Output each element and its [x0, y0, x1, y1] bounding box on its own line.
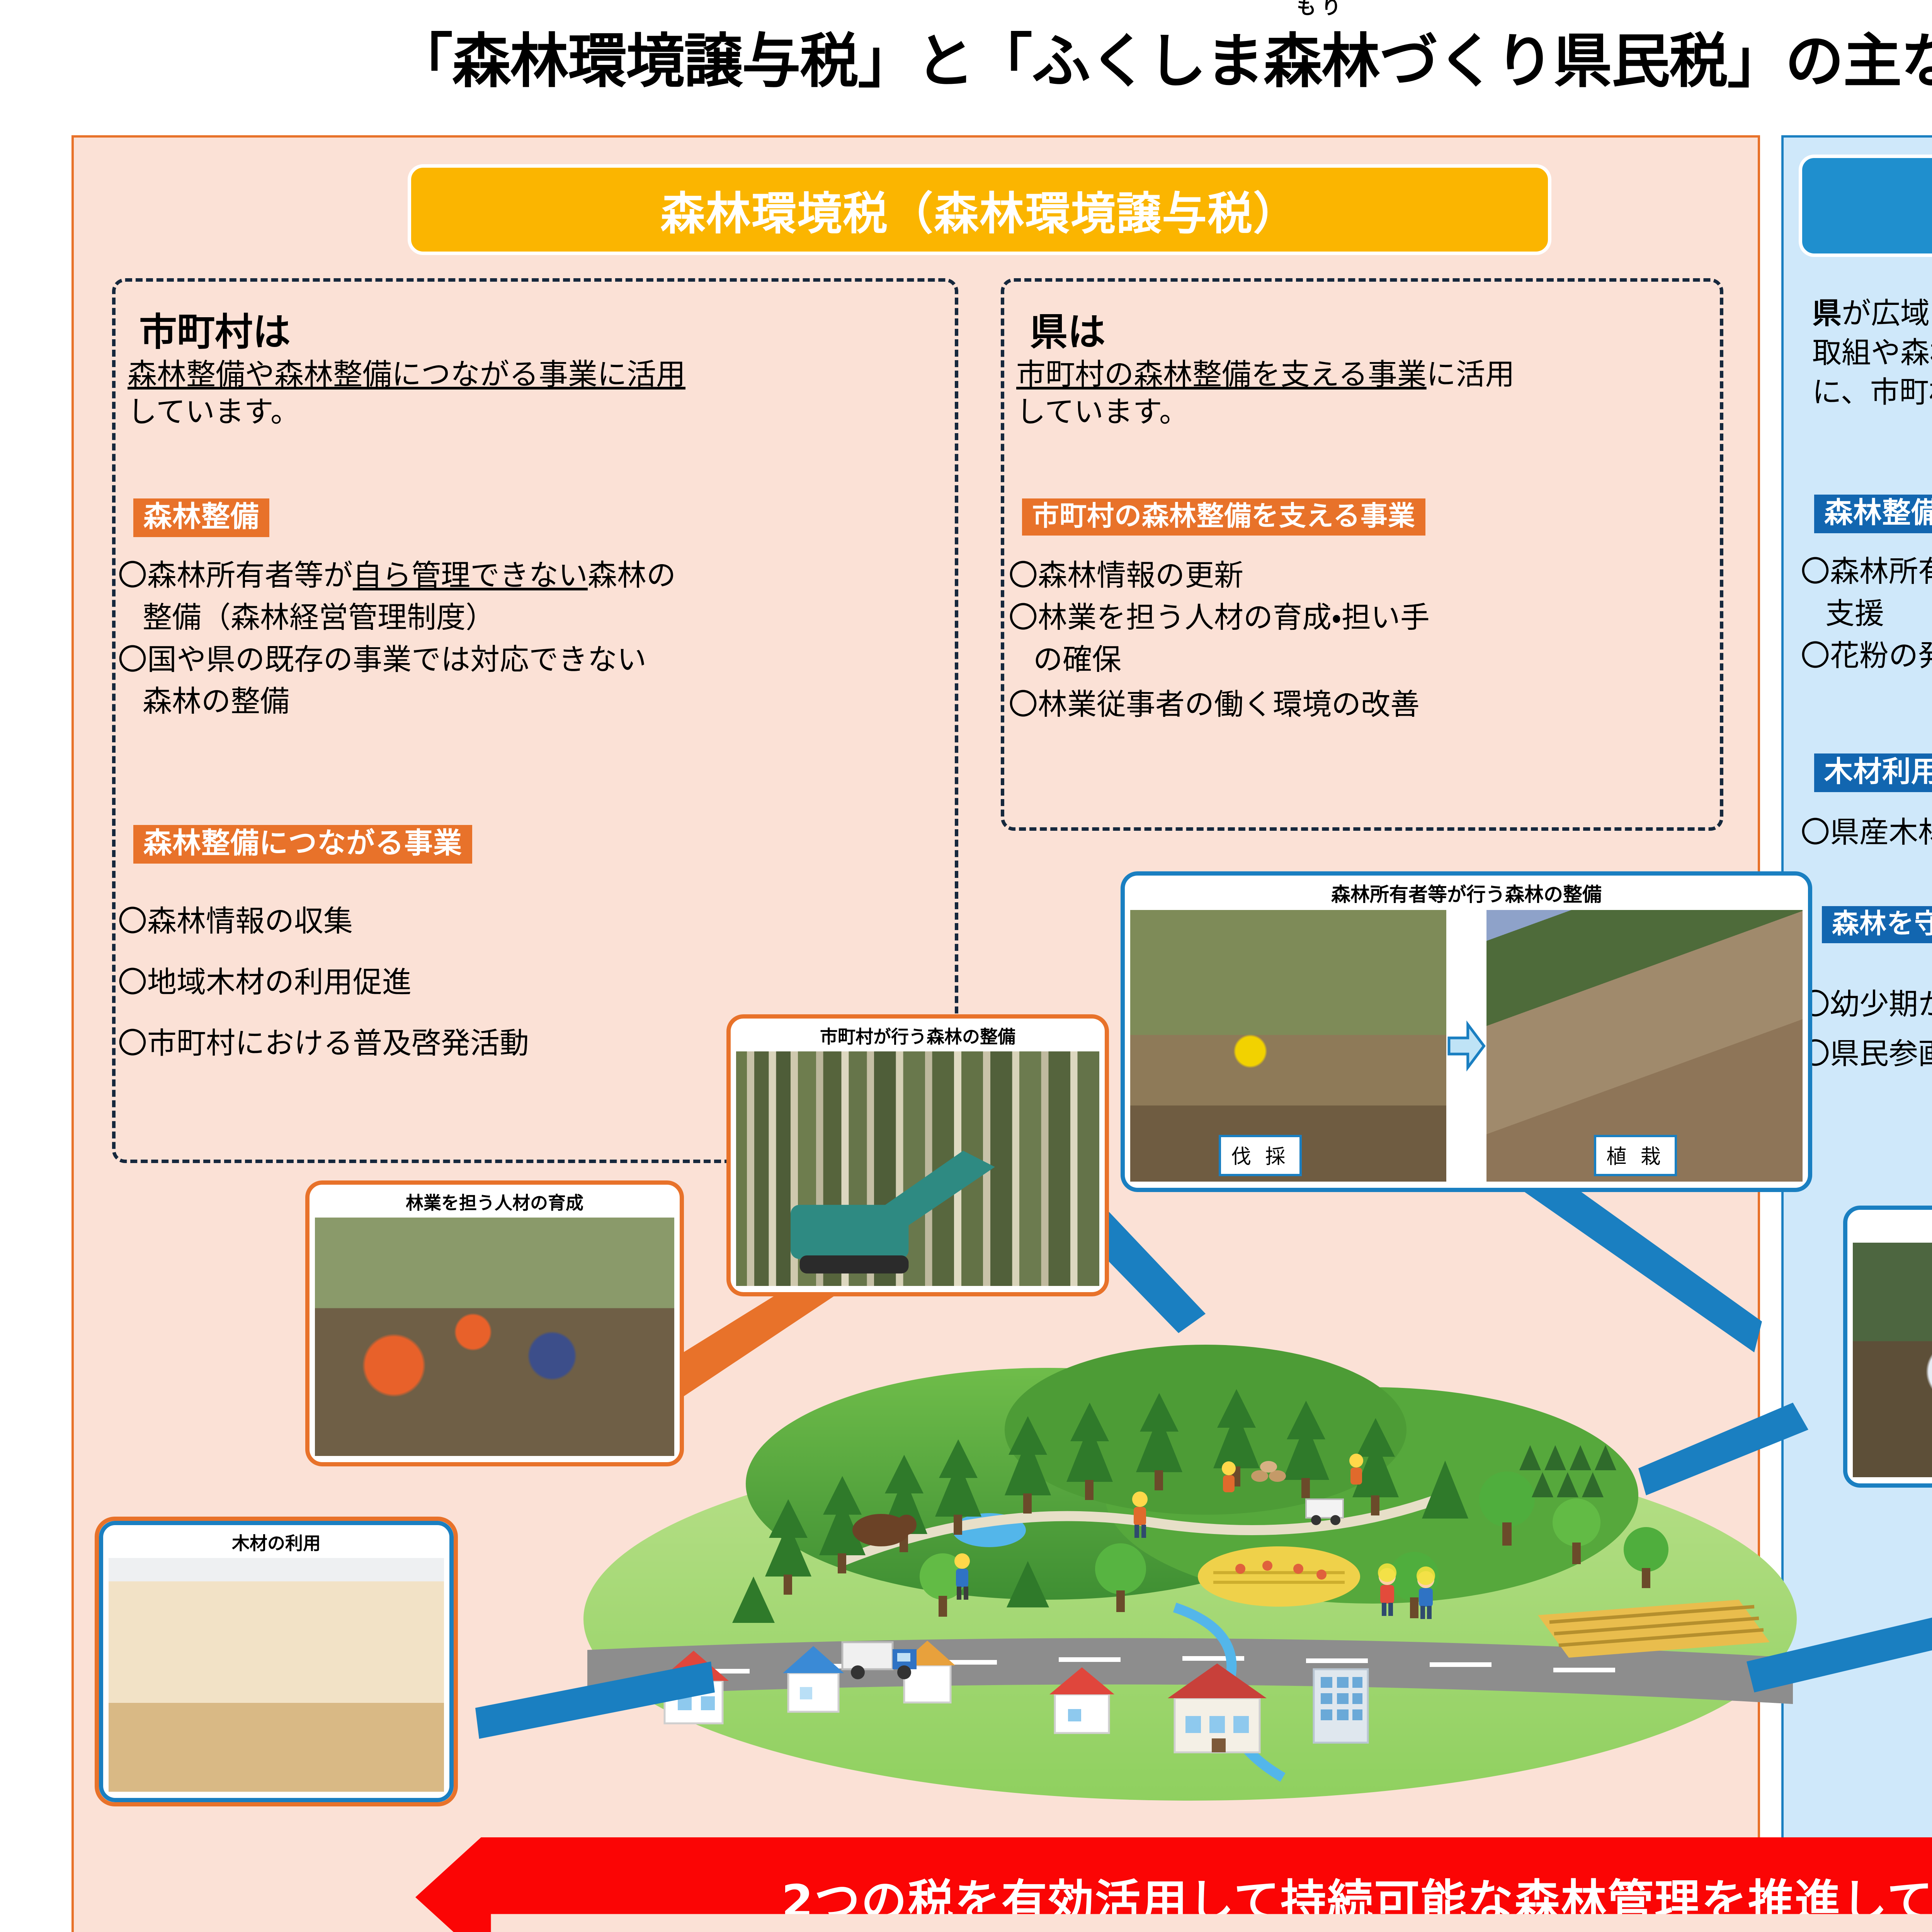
bullet-text: 〇県民参画による森林づくり — [1801, 1036, 1932, 1071]
photo-sublabel: 伐 採 — [1219, 1135, 1302, 1176]
forest-landscape-illustration — [572, 1229, 1808, 1832]
bottom-banner: 2つの税を有効活用して持続可能な森林管理を推進しています — [415, 1837, 1932, 1932]
right-awareness-bullets: 〇幼少期から大人までの森林環境学習 もり 〇県民参画による森林づくり — [1801, 981, 1932, 1080]
bullet-continuation: 森林の整備 — [118, 682, 949, 721]
arrow-right-icon — [1446, 910, 1486, 1182]
intro-line3: に、市町村と協力して活用しています。 — [1812, 375, 1932, 409]
page-title-ruby-base: 森林 — [1264, 27, 1379, 95]
right-maintenance-bullets: 〇森林所有者等が自ら管理する森林の整備を 支援 〇花粉の発生源対策 — [1801, 553, 1932, 679]
photo-planting: 植 栽 — [1486, 910, 1803, 1182]
chip-awareness-initiatives: 森林を守り育てる意識を高める取組 — [1822, 906, 1932, 943]
photo-sublabel: 植 栽 — [1594, 1135, 1677, 1176]
photo-card-human-resources: 林業を担う人材の育成 — [305, 1180, 684, 1466]
prefecture-description: 市町村の森林整備を支える事業に活用 しています。 — [1016, 355, 1719, 431]
chip-forest-maintenance-left: 森林整備 — [133, 498, 269, 537]
photo-municipal-forest — [736, 1051, 1099, 1286]
photo-wood-interior — [109, 1558, 444, 1792]
fukushima-forest-creation-tax-header: ふくしまもり森林づくり県民税 — [1799, 155, 1932, 257]
bullet-item: 〇林業従事者の働く環境の改善 — [1009, 685, 1719, 724]
bullet-ruby-group: もり 〇県民参画による森林づくり — [1801, 1031, 1932, 1077]
chip-wood-utilization: 木材利用 — [1814, 753, 1932, 792]
bullet-item: 〇林業を担う人材の育成・担い手 — [1009, 599, 1719, 637]
bullet-item: 〇国や県の既存の事業では対応できない — [118, 641, 949, 679]
bullet-continuation: の確保 — [1009, 641, 1719, 679]
bullet-item: 〇森林所有者等が自ら管理する森林の整備を — [1801, 553, 1932, 591]
municipality-description: 森林整備や森林整備につながる事業に活用 しています。 — [128, 355, 947, 431]
bullet-item: 〇森林情報の更新 — [1009, 556, 1719, 595]
bullet-item: 〇森林情報の収集 — [118, 893, 949, 950]
page-title-ruby-group: もり森林 — [1264, 14, 1379, 99]
page-title-ruby: もり — [1297, 0, 1346, 20]
bullet-item: もり 〇県民参画による森林づくり — [1801, 1031, 1932, 1077]
prefecture-description-underlined: 市町村の森林整備を支える事業 — [1016, 357, 1427, 391]
bullet-continuation: 整備（森林経営管理制度） — [118, 599, 949, 637]
chip-forest-maintenance-right: 森林整備 — [1814, 495, 1932, 533]
bullet-continuation: 支援 — [1801, 595, 1932, 633]
photo-card-wood-use: 木材の利用 — [99, 1521, 454, 1802]
page-title-part1: 「森林環境譲与税」と「ふくしま — [394, 14, 1264, 99]
forest-environment-tax-header: 森林環境税（森林環境譲与税） — [408, 164, 1551, 255]
photo-card-forest-learning: 森林環境学習 — [1843, 1206, 1932, 1488]
photo-caption: 木材の利用 — [232, 1534, 321, 1553]
photo-felling: 伐 採 — [1130, 910, 1446, 1182]
photo-card-owner-maintenance: 森林所有者等が行う森林の整備 伐 採 植 栽 — [1121, 871, 1812, 1192]
prefecture-subject: 県は — [1030, 301, 1105, 356]
prefecture-description-tail2: しています。 — [1016, 395, 1189, 429]
bullet-item: 〇花粉の発生源対策 — [1801, 637, 1932, 675]
page-title-part2: づくり県民税」の主な取組 — [1379, 14, 1932, 99]
municipality-maintenance-bullets: 〇森林所有者等が自ら管理できない森林の 整備（森林経営管理制度） 〇国や県の既存… — [118, 556, 949, 724]
page-title: 「森林環境譲与税」と「ふくしまもり森林づくり県民税」の主な取組 — [162, 12, 1932, 100]
bullet-item: 〇県産木材の利用促進 — [1801, 813, 1932, 852]
photo-card-wood-use-outer: 木材の利用 — [95, 1517, 458, 1806]
photo-caption: 市町村が行う森林の整備 — [820, 1027, 1015, 1047]
prefecture-bullets: 〇森林情報の更新 〇林業を担う人材の育成・担い手 の確保 〇林業従事者の働く環境… — [1009, 556, 1719, 728]
photo-card-municipal-maintenance: 市町村が行う森林の整備 — [726, 1014, 1109, 1296]
prefecture-description-tail1: に活用 — [1427, 357, 1515, 391]
bullet-item: 〇幼少期から大人までの森林環境学習 — [1801, 981, 1932, 1027]
right-wood-bullets: 〇県産木材の利用促進 — [1801, 813, 1932, 855]
prefecture-wide-intro: 県が広域的に実施する森林環境を保全する 取組や森林を守り育てる意識を広げる取組 … — [1812, 294, 1932, 412]
municipality-description-underlined: 森林整備や森林整備につながる事業に活用 — [128, 357, 685, 391]
excavator-icon — [736, 1051, 1099, 1286]
intro-line2: 取組や森林を守り育てる意識を広げる取組 — [1812, 335, 1932, 370]
banner-text: 2つの税を有効活用して持続可能な森林管理を推進しています — [415, 1837, 1932, 1932]
chip-maintenance-related-business: 森林整備につながる事業 — [133, 825, 472, 864]
intro-subject: 県 — [1812, 296, 1842, 330]
chip-support-municipality-business: 市町村の森林整備を支える事業 — [1022, 498, 1425, 536]
photo-caption: 林業を担う人材の育成 — [406, 1193, 583, 1213]
photo-school-children — [1853, 1243, 1932, 1477]
photo-caption: 森林所有者等が行う森林の整備 — [1331, 884, 1602, 905]
bullet-item: 〇森林所有者等が自ら管理できない森林の — [118, 556, 949, 595]
bullet-item: 〇地域木材の利用促進 — [118, 954, 949, 1011]
photo-training — [315, 1218, 674, 1456]
municipality-subject: 市町村は — [139, 301, 291, 356]
intro-line1: が広域的に実施する森林環境を保全する — [1842, 296, 1932, 330]
municipality-description-tail: しています。 — [128, 395, 300, 429]
